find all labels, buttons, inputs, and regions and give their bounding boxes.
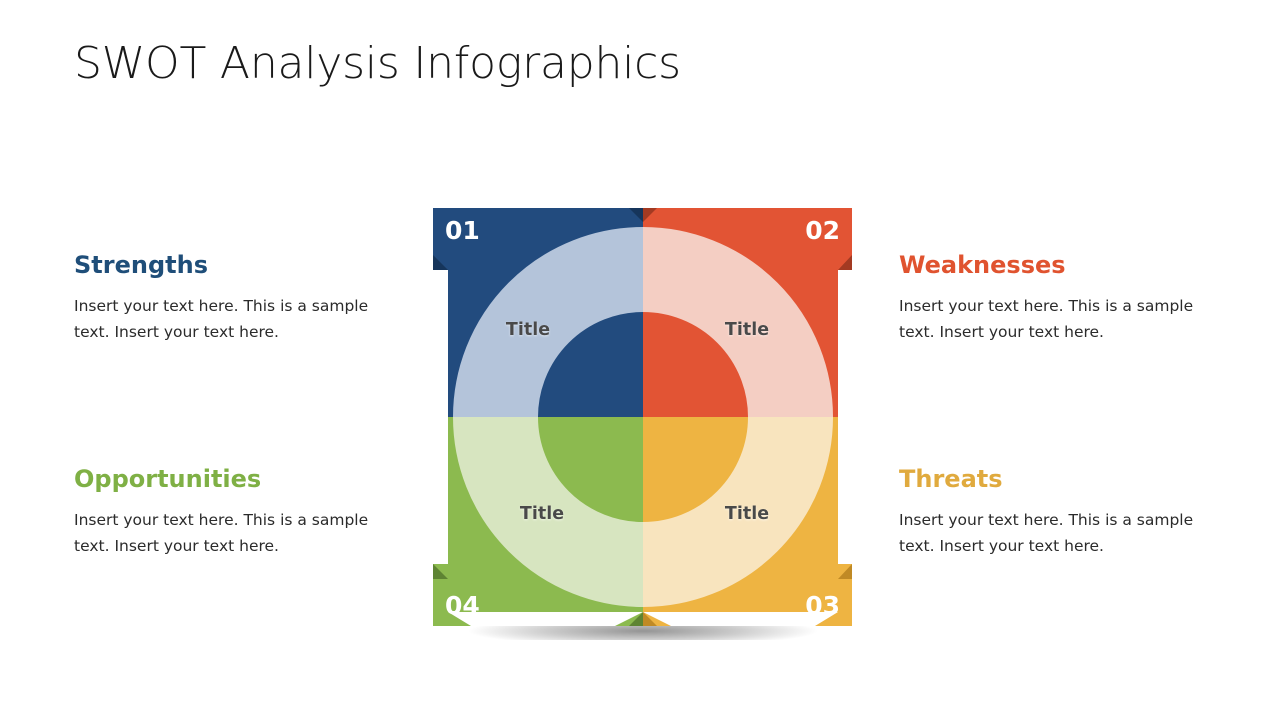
swot-block-weaknesses: Weaknesses Insert your text here. This i…: [899, 252, 1229, 345]
block-body-weaknesses: Insert your text here. This is a sample …: [899, 294, 1229, 344]
page-title: SWOT Analysis Infographics: [74, 38, 681, 89]
ring-label-weaknesses: Title: [725, 320, 769, 340]
block-heading-opportunities: Opportunities: [74, 466, 404, 492]
badge-number-02: 02: [805, 216, 840, 245]
swot-diagram: Title Title Title Title 01 02 04 03: [425, 195, 860, 640]
ring-label-threats: Title: [725, 504, 769, 524]
ring-label-opportunities: Title: [520, 504, 564, 524]
block-heading-strengths: Strengths: [74, 252, 404, 278]
block-heading-threats: Threats: [899, 466, 1229, 492]
badge-number-03: 03: [805, 591, 840, 620]
block-body-strengths: Insert your text here. This is a sample …: [74, 294, 404, 344]
badge-number-01: 01: [445, 216, 480, 245]
block-body-threats: Insert your text here. This is a sample …: [899, 508, 1229, 558]
ring-label-strengths: Title: [506, 320, 550, 340]
block-heading-weaknesses: Weaknesses: [899, 252, 1229, 278]
swot-block-threats: Threats Insert your text here. This is a…: [899, 466, 1229, 559]
block-body-opportunities: Insert your text here. This is a sample …: [74, 508, 404, 558]
swot-block-strengths: Strengths Insert your text here. This is…: [74, 252, 404, 345]
swot-block-opportunities: Opportunities Insert your text here. Thi…: [74, 466, 404, 559]
badge-number-04: 04: [445, 591, 480, 620]
